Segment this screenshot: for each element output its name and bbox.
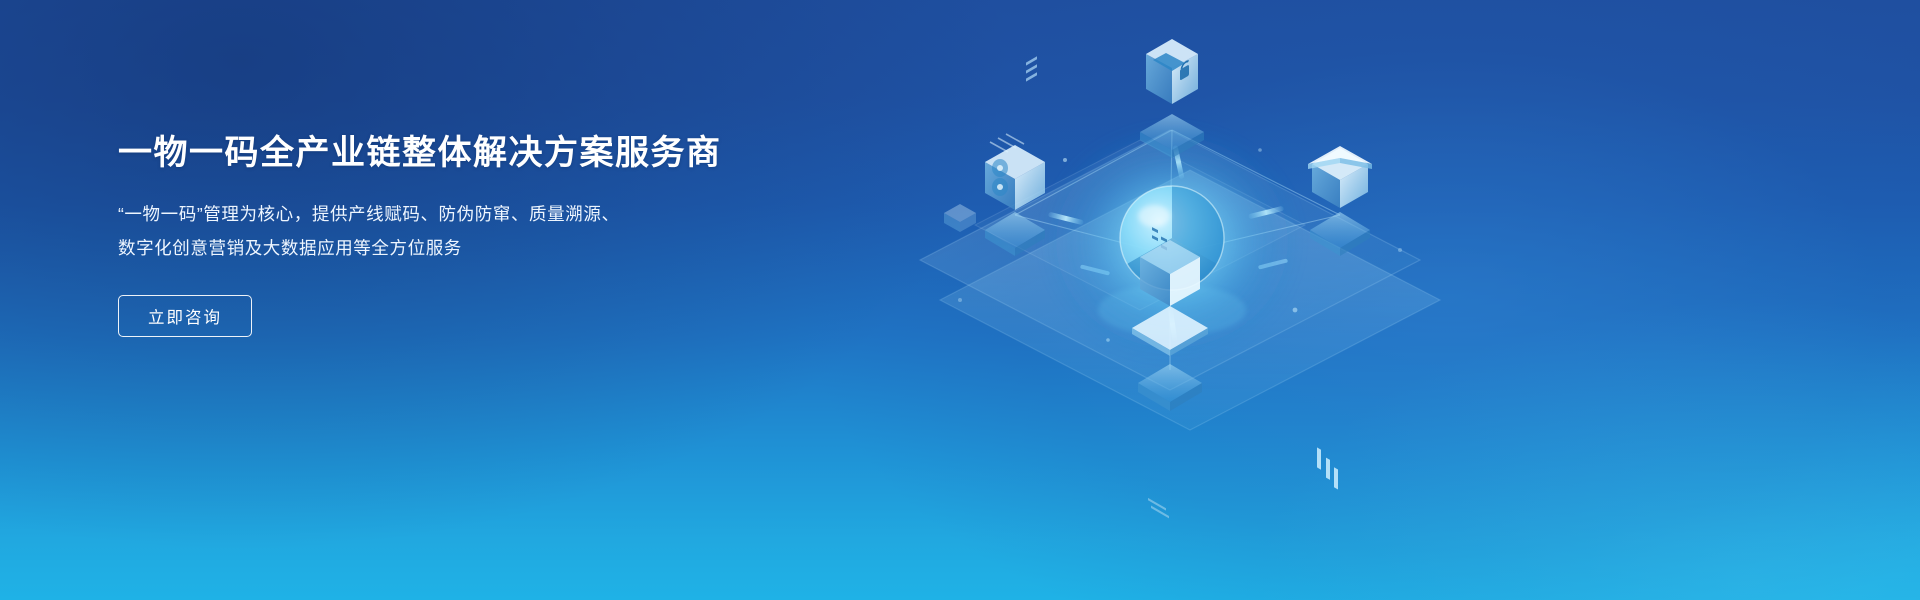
hero-illustration xyxy=(840,10,1600,590)
subtitle-line-1: “一物一码”管理为核心，提供产线赋码、防伪防窜、质量溯源、 xyxy=(118,197,678,231)
cta-container: 立即咨询 xyxy=(118,295,838,337)
consult-now-button[interactable]: 立即咨询 xyxy=(118,295,252,337)
subtitle-line-2: 数字化创意营销及大数据应用等全方位服务 xyxy=(118,231,678,265)
hero-content: 一物一码全产业链整体解决方案服务商 “一物一码”管理为核心，提供产线赋码、防伪防… xyxy=(118,132,838,337)
server-fan-icon xyxy=(944,56,1045,256)
hero-banner: 一物一码全产业链整体解决方案服务商 “一物一码”管理为核心，提供产线赋码、防伪防… xyxy=(0,0,1920,600)
chip-accent xyxy=(944,204,976,232)
page-title: 一物一码全产业链整体解决方案服务商 xyxy=(118,132,838,175)
hero-subtitle: “一物一码”管理为核心，提供产线赋码、防伪防窜、质量溯源、 数字化创意营销及大数… xyxy=(118,197,678,265)
